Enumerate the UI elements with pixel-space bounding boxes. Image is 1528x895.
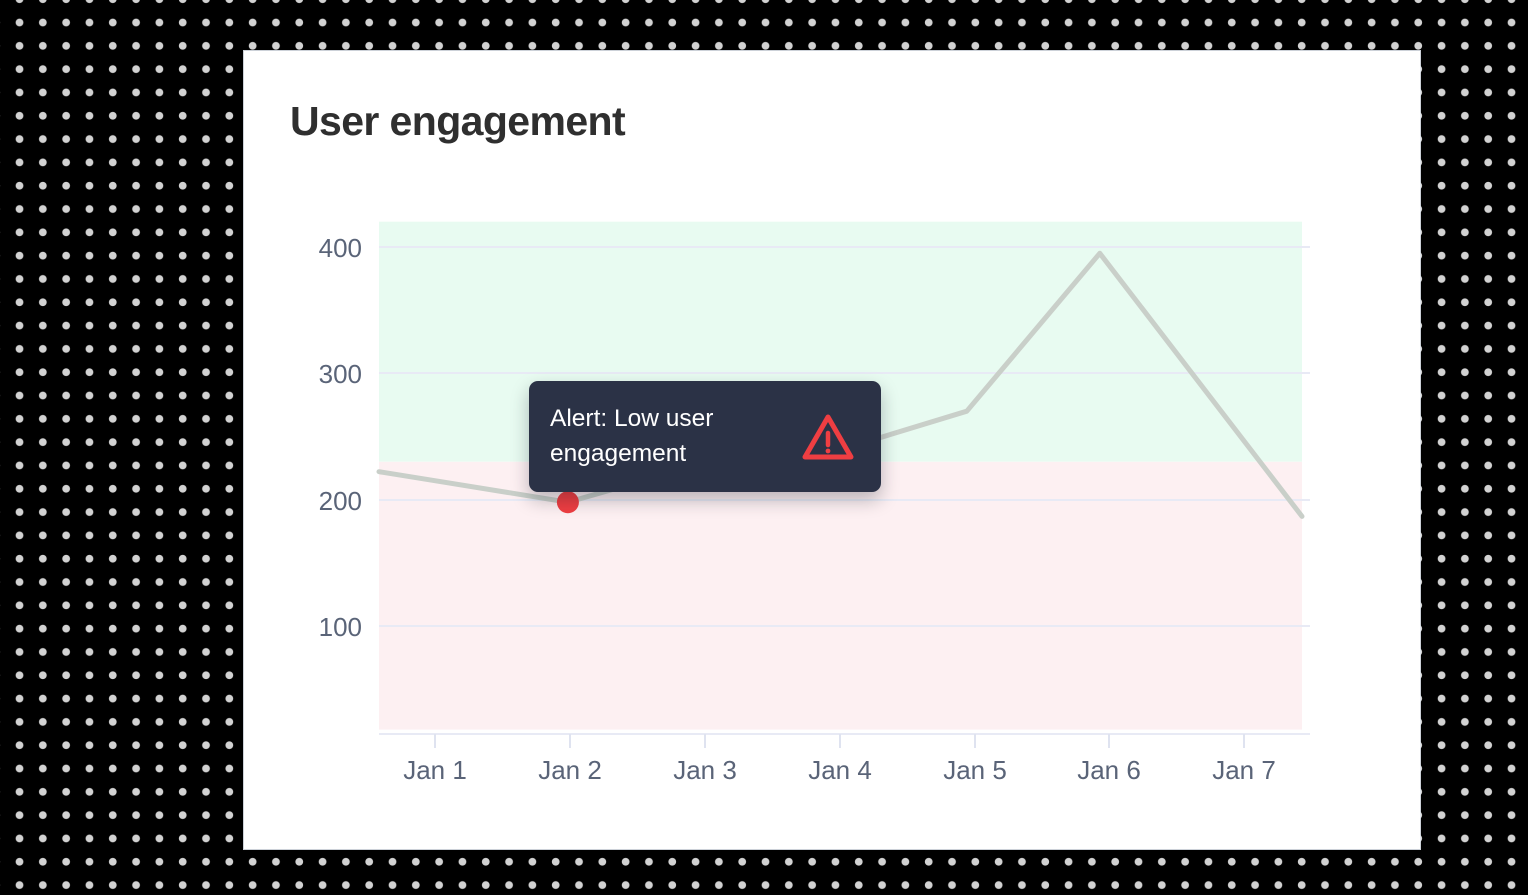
low-engagement-band bbox=[379, 462, 1302, 730]
warning-triangle-icon bbox=[801, 413, 855, 461]
y-axis: 400 300 200 100 bbox=[319, 233, 362, 642]
x-tick-label-jan-4: Jan 4 bbox=[808, 755, 872, 785]
alert-tooltip[interactable]: Alert: Low user engagement bbox=[529, 381, 881, 492]
x-tick-label-jan-3: Jan 3 bbox=[673, 755, 737, 785]
y-tick-label-200: 200 bbox=[319, 486, 362, 516]
x-axis: Jan 1 Jan 2 Jan 3 Jan 4 Jan 5 Jan 6 Jan … bbox=[379, 734, 1310, 785]
x-tick-label-jan-5: Jan 5 bbox=[943, 755, 1007, 785]
chart-card: User engagement 400 300 200 100 bbox=[244, 51, 1420, 849]
x-tick-label-jan-2: Jan 2 bbox=[538, 755, 602, 785]
y-tick-label-300: 300 bbox=[319, 359, 362, 389]
x-tick-label-jan-6: Jan 6 bbox=[1077, 755, 1141, 785]
alert-tooltip-message: Alert: Low user engagement bbox=[550, 402, 745, 472]
alert-data-point[interactable] bbox=[557, 491, 579, 513]
y-tick-label-100: 100 bbox=[319, 612, 362, 642]
x-tick-label-jan-1: Jan 1 bbox=[403, 755, 467, 785]
y-tick-label-400: 400 bbox=[319, 233, 362, 263]
x-tick-label-jan-7: Jan 7 bbox=[1212, 755, 1276, 785]
